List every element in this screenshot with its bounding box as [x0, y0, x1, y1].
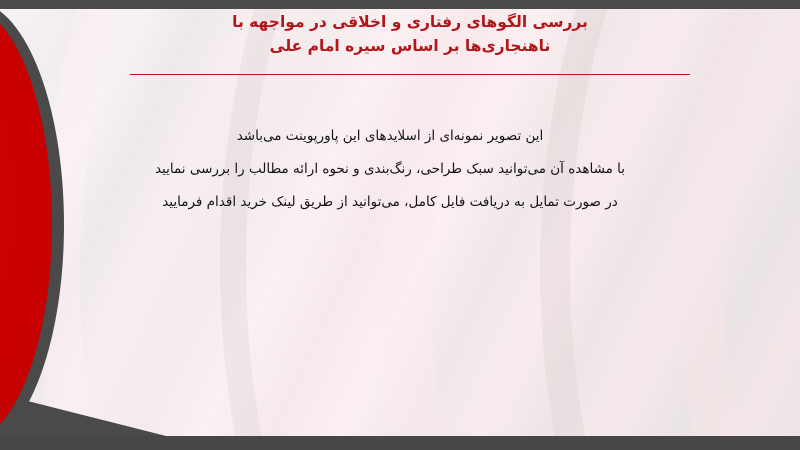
slide-top-band [0, 0, 800, 9]
slide-body-block: این تصویر نمونه‌ای از اسلایدهای این پاور… [60, 120, 720, 219]
slide-body-line-2: با مشاهده آن می‌توانید سبک طراحی، رنگ‌بن… [60, 153, 720, 186]
title-underline-divider [130, 74, 690, 75]
slide-title-line-2: ناهنجاری‌ها بر اساس سیره امام علی [120, 34, 700, 58]
slide-bottom-band [0, 436, 800, 450]
presentation-slide: بررسی الگوهای رفتاری و اخلاقی در مواجهه … [0, 0, 800, 450]
slide-body-line-3: در صورت تمایل به دریافت فایل کامل، می‌تو… [60, 186, 720, 219]
slide-body-line-1: این تصویر نمونه‌ای از اسلایدهای این پاور… [60, 120, 720, 153]
slide-title-block: بررسی الگوهای رفتاری و اخلاقی در مواجهه … [120, 10, 700, 58]
slide-title-line-1: بررسی الگوهای رفتاری و اخلاقی در مواجهه … [120, 10, 700, 34]
slide-content-panel [0, 8, 800, 437]
